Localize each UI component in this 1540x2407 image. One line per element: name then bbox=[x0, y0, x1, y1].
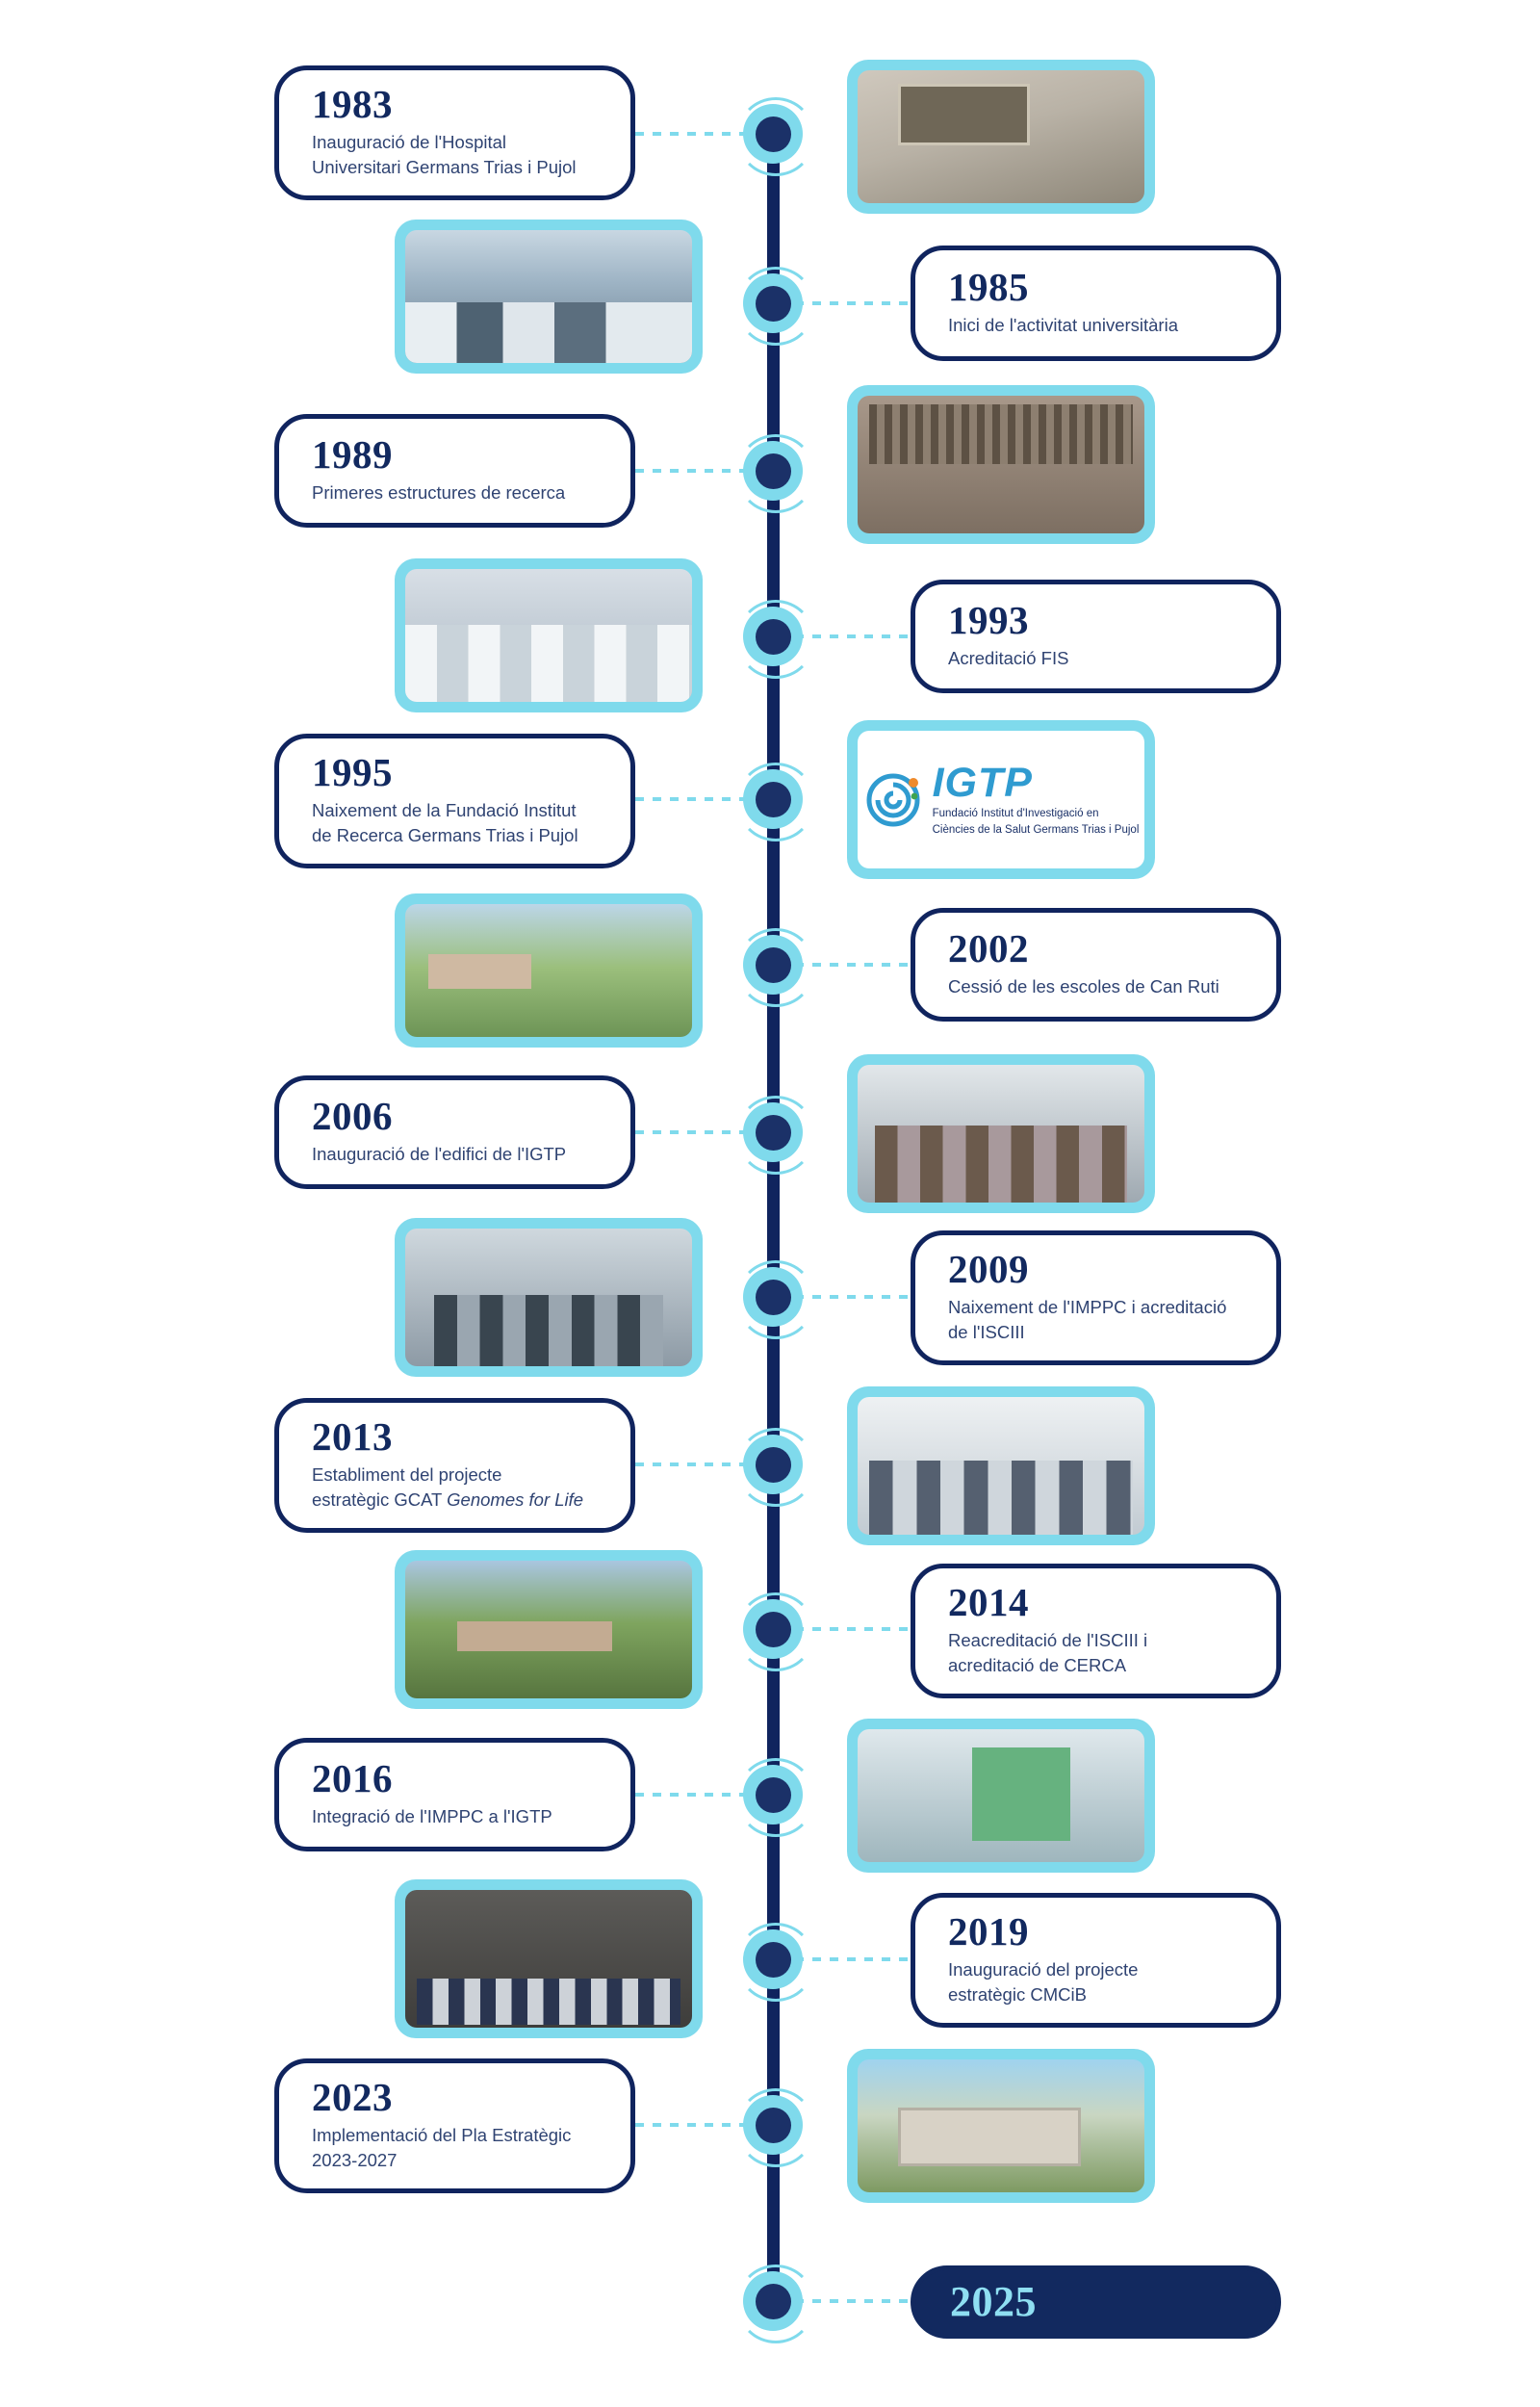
event-year: 1989 bbox=[312, 434, 598, 476]
timeline-node-2013[interactable] bbox=[743, 1435, 803, 1494]
timeline-node-2014[interactable] bbox=[743, 1599, 803, 1659]
photo-image bbox=[405, 904, 692, 1037]
spiral-icon bbox=[863, 770, 923, 830]
event-year: 2013 bbox=[312, 1416, 598, 1458]
event-photo-1995-igtp-logo[interactable]: IGTP Fundació Institut d'Investigació en… bbox=[847, 720, 1155, 879]
event-description: Naixement de l'IMPPC i acreditació de l'… bbox=[948, 1295, 1244, 1346]
event-photo-2023[interactable] bbox=[847, 2049, 1155, 2203]
timeline-node-2019[interactable] bbox=[743, 1929, 803, 1989]
timeline-node-1985[interactable] bbox=[743, 273, 803, 333]
event-card-2016[interactable]: 2016 Integració de l'IMPPC a l'IGTP bbox=[274, 1738, 635, 1851]
event-card-1995[interactable]: 1995 Naixement de la Fundació Institut d… bbox=[274, 734, 635, 868]
event-description: Implementació del Pla Estratègic 2023-20… bbox=[312, 2123, 598, 2174]
event-card-2009[interactable]: 2009 Naixement de l'IMPPC i acreditació … bbox=[911, 1230, 1281, 1365]
photo-image bbox=[405, 569, 692, 702]
event-description: Naixement de la Fundació Institut de Rec… bbox=[312, 798, 598, 849]
timeline-infographic: 1983 Inauguració de l'Hospital Universit… bbox=[0, 0, 1540, 2407]
event-description: Inauguració de l'edifici de l'IGTP bbox=[312, 1142, 598, 1167]
connector-2016 bbox=[635, 1793, 751, 1797]
timeline-node-1993[interactable] bbox=[743, 607, 803, 666]
event-year: 2006 bbox=[312, 1096, 598, 1137]
photo-image bbox=[405, 1561, 692, 1698]
desc-text-italic: Genomes for Life bbox=[447, 1489, 583, 1510]
connector-1995 bbox=[635, 797, 751, 801]
event-year: 2014 bbox=[948, 1582, 1244, 1623]
event-year: 1995 bbox=[312, 752, 598, 793]
photo-image bbox=[858, 70, 1144, 203]
photo-image bbox=[405, 1229, 692, 1366]
event-description: Cessió de les escoles de Can Ruti bbox=[948, 974, 1244, 999]
timeline-node-2006[interactable] bbox=[743, 1102, 803, 1162]
event-year: 2019 bbox=[948, 1911, 1244, 1953]
connector-2006 bbox=[635, 1130, 751, 1134]
event-description: Reacreditació de l'ISCIII i acreditació … bbox=[948, 1628, 1244, 1679]
event-description: Acreditació FIS bbox=[948, 646, 1244, 671]
event-year: 2002 bbox=[948, 928, 1244, 970]
photo-image bbox=[405, 1890, 692, 2028]
event-year: 1983 bbox=[312, 84, 598, 125]
photo-image bbox=[858, 396, 1144, 533]
logo-subtitle-line1: Fundació Institut d'Investigació en bbox=[933, 807, 1140, 820]
event-photo-1985[interactable] bbox=[395, 220, 703, 374]
event-card-2013[interactable]: 2013 Establiment del projecte estratègic… bbox=[274, 1398, 635, 1533]
timeline-node-1995[interactable] bbox=[743, 769, 803, 829]
timeline-node-2025[interactable] bbox=[743, 2271, 803, 2331]
event-description: Inauguració del projecte estratègic CMCi… bbox=[948, 1957, 1244, 2008]
event-photo-2002[interactable] bbox=[395, 893, 703, 1048]
event-card-2002[interactable]: 2002 Cessió de les escoles de Can Ruti bbox=[911, 908, 1281, 1022]
event-photo-1983[interactable] bbox=[847, 60, 1155, 214]
event-card-2019[interactable]: 2019 Inauguració del projecte estratègic… bbox=[911, 1893, 1281, 2028]
event-card-1983[interactable]: 1983 Inauguració de l'Hospital Universit… bbox=[274, 65, 635, 200]
event-card-1989[interactable]: 1989 Primeres estructures de recerca bbox=[274, 414, 635, 528]
event-photo-2006[interactable] bbox=[847, 1054, 1155, 1213]
orange-dot-icon bbox=[909, 778, 918, 788]
event-description: Inici de l'activitat universitària bbox=[948, 313, 1244, 338]
timeline-node-1983[interactable] bbox=[743, 104, 803, 164]
timeline-node-2002[interactable] bbox=[743, 935, 803, 995]
event-photo-2013[interactable] bbox=[847, 1386, 1155, 1545]
event-card-1993[interactable]: 1993 Acreditació FIS bbox=[911, 580, 1281, 693]
event-year: 2025 bbox=[950, 2280, 1242, 2324]
event-year: 1985 bbox=[948, 267, 1244, 308]
event-year: 1993 bbox=[948, 600, 1244, 641]
event-photo-1993[interactable] bbox=[395, 558, 703, 712]
event-photo-2019[interactable] bbox=[395, 1879, 703, 2038]
logo-title: IGTP bbox=[933, 763, 1140, 804]
connector-2023 bbox=[635, 2123, 751, 2127]
event-year: 2016 bbox=[312, 1758, 598, 1799]
photo-image bbox=[405, 230, 692, 363]
logo-subtitle-line2: Ciències de la Salut Germans Trias i Puj… bbox=[933, 823, 1140, 837]
connector-1989 bbox=[635, 469, 751, 473]
connector-2013 bbox=[635, 1462, 751, 1466]
event-card-2006[interactable]: 2006 Inauguració de l'edifici de l'IGTP bbox=[274, 1075, 635, 1189]
connector-1983 bbox=[635, 132, 751, 136]
event-description: Inauguració de l'Hospital Universitari G… bbox=[312, 130, 598, 181]
event-card-1985[interactable]: 1985 Inici de l'activitat universitària bbox=[911, 246, 1281, 361]
timeline-node-2023[interactable] bbox=[743, 2095, 803, 2155]
green-dot-icon bbox=[911, 792, 917, 799]
photo-image bbox=[858, 1065, 1144, 1203]
event-photo-2009[interactable] bbox=[395, 1218, 703, 1377]
event-photo-2016[interactable] bbox=[847, 1719, 1155, 1873]
photo-image bbox=[858, 1729, 1144, 1862]
event-photo-1989[interactable] bbox=[847, 385, 1155, 544]
timeline-node-2009[interactable] bbox=[743, 1267, 803, 1327]
event-description: Primeres estructures de recerca bbox=[312, 480, 598, 505]
event-description: Integració de l'IMPPC a l'IGTP bbox=[312, 1804, 598, 1829]
event-description: Establiment del projecte estratègic GCAT… bbox=[312, 1462, 598, 1514]
event-photo-2014[interactable] bbox=[395, 1550, 703, 1709]
event-card-2023[interactable]: 2023 Implementació del Pla Estratègic 20… bbox=[274, 2058, 635, 2193]
event-card-2014[interactable]: 2014 Reacreditació de l'ISCIII i acredit… bbox=[911, 1564, 1281, 1698]
event-year: 2023 bbox=[312, 2077, 598, 2118]
photo-image bbox=[858, 2059, 1144, 2192]
photo-image bbox=[858, 1397, 1144, 1535]
timeline-node-1989[interactable] bbox=[743, 441, 803, 501]
timeline-node-2016[interactable] bbox=[743, 1765, 803, 1825]
event-year: 2009 bbox=[948, 1249, 1244, 1290]
photo-image: IGTP Fundació Institut d'Investigació en… bbox=[858, 731, 1144, 868]
event-card-2025[interactable]: 2025 bbox=[911, 2265, 1281, 2339]
